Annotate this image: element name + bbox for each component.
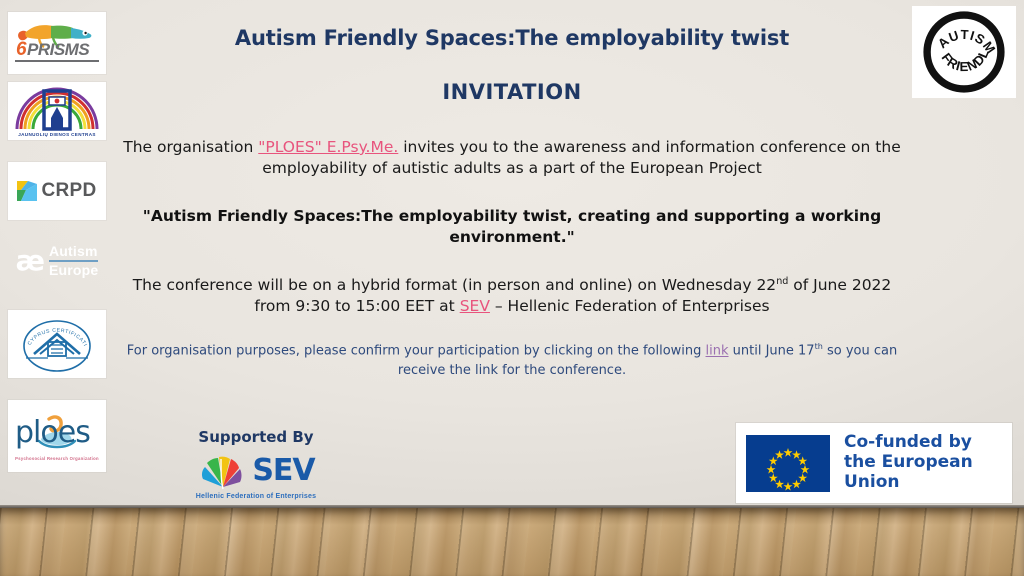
- autism-friendly-stamp: AUTISM FRIENDLY: [912, 6, 1016, 98]
- logo-cyprus-certification-company: CYPRUS CERTIFICATION COMPANY: [8, 310, 106, 378]
- invitation-slide: 6 PRISMS JAUNUOLIŲ DIENOS CENTRAS: [0, 0, 1024, 576]
- sev-link[interactable]: SEV: [460, 297, 490, 315]
- logo-ploes: ploes Psychosocial Research Organization: [8, 400, 106, 472]
- autism-friendly-badge-icon: AUTISM FRIENDLY: [923, 11, 1005, 93]
- confirmation-paragraph: For organisation purposes, please confir…: [120, 341, 904, 380]
- supported-by-label: Supported By: [166, 428, 346, 446]
- prisms-wordmark: PRISMS: [27, 40, 89, 60]
- logo-6prisms: 6 PRISMS: [8, 12, 106, 74]
- wooden-floor: [0, 508, 1024, 576]
- prisms-rule: [15, 60, 99, 62]
- eu-cofunded-badge: Co-funded by the European Union: [736, 423, 1012, 503]
- ae-line-2: Europe: [49, 263, 98, 278]
- sev-tagline: Hellenic Federation of Enterprises: [166, 493, 346, 500]
- prisms-lockup: 6 PRISMS: [13, 20, 101, 66]
- sev-lockup: SEV: [166, 449, 346, 491]
- sev-wordmark: SEV: [252, 453, 314, 488]
- intro-paragraph: The organisation "PLOES" E.Psy.Me. invit…: [120, 137, 904, 180]
- crpd-wordmark: CRPD: [41, 180, 96, 202]
- conference-details-paragraph: The conference will be on a hybrid forma…: [120, 275, 904, 318]
- eu-flag-icon: [746, 435, 830, 492]
- confirm-before: For organisation purposes, please confir…: [127, 344, 706, 359]
- ae-line-1: Autism: [49, 244, 98, 259]
- when-superscript-nd: nd: [776, 276, 788, 287]
- intro-before: The organisation: [123, 138, 258, 156]
- eu-text-block: Co-funded by the European Union: [844, 433, 1012, 492]
- eu-line-2: the European Union: [844, 453, 1012, 492]
- supported-by-block: Supported By SEV Hellenic Federation of …: [166, 428, 346, 500]
- ploes-wordmark: ploes: [15, 415, 90, 450]
- confirm-superscript-th: th: [815, 342, 823, 351]
- jdc-caption: JAUNUOLIŲ DIENOS CENTRAS: [11, 132, 103, 137]
- rainbow-arch-icon: [11, 85, 103, 131]
- certification-seal-icon: CYPRUS CERTIFICATION COMPANY: [20, 314, 94, 374]
- slide-subtitle: INVITATION: [120, 80, 904, 104]
- invitation-body: Autism Friendly Spaces:The employability…: [120, 0, 904, 381]
- logo-jaunuoliu-dienos-centras: JAUNUOLIŲ DIENOS CENTRAS: [8, 82, 106, 140]
- project-title-quote: "Autism Friendly Spaces:The employabilit…: [120, 206, 904, 249]
- ccc-lockup: CYPRUS CERTIFICATION COMPANY: [20, 314, 94, 374]
- autism-europe-lockup: æ Autism Europe: [16, 244, 99, 277]
- prisms-numeral: 6: [16, 39, 27, 61]
- logo-crpd: CRPD: [8, 162, 106, 220]
- ploes-caption: Psychosocial Research Organization: [14, 456, 100, 461]
- logo-autism-europe: æ Autism Europe: [8, 235, 106, 287]
- ae-monogram-icon: æ: [16, 247, 43, 275]
- jdc-lockup: JAUNUOLIŲ DIENOS CENTRAS: [11, 85, 103, 137]
- eu-line-1: Co-funded by: [844, 433, 1012, 453]
- crpd-mark-icon: [17, 181, 37, 201]
- ae-words: Autism Europe: [49, 244, 98, 277]
- sev-fan-icon: [197, 449, 249, 491]
- slide-title: Autism Friendly Spaces:The employability…: [120, 26, 904, 50]
- crpd-lockup: CRPD: [17, 180, 96, 202]
- confirm-middle: until June 17: [729, 344, 815, 359]
- when-before: The conference will be on a hybrid forma…: [133, 276, 777, 294]
- registration-link[interactable]: link: [706, 344, 729, 359]
- when-after: – Hellenic Federation of Enterprises: [490, 297, 770, 315]
- ploes-lockup: ploes Psychosocial Research Organization: [13, 409, 101, 463]
- ploes-epsyme-link[interactable]: "PLOES" E.Psy.Me.: [258, 138, 398, 156]
